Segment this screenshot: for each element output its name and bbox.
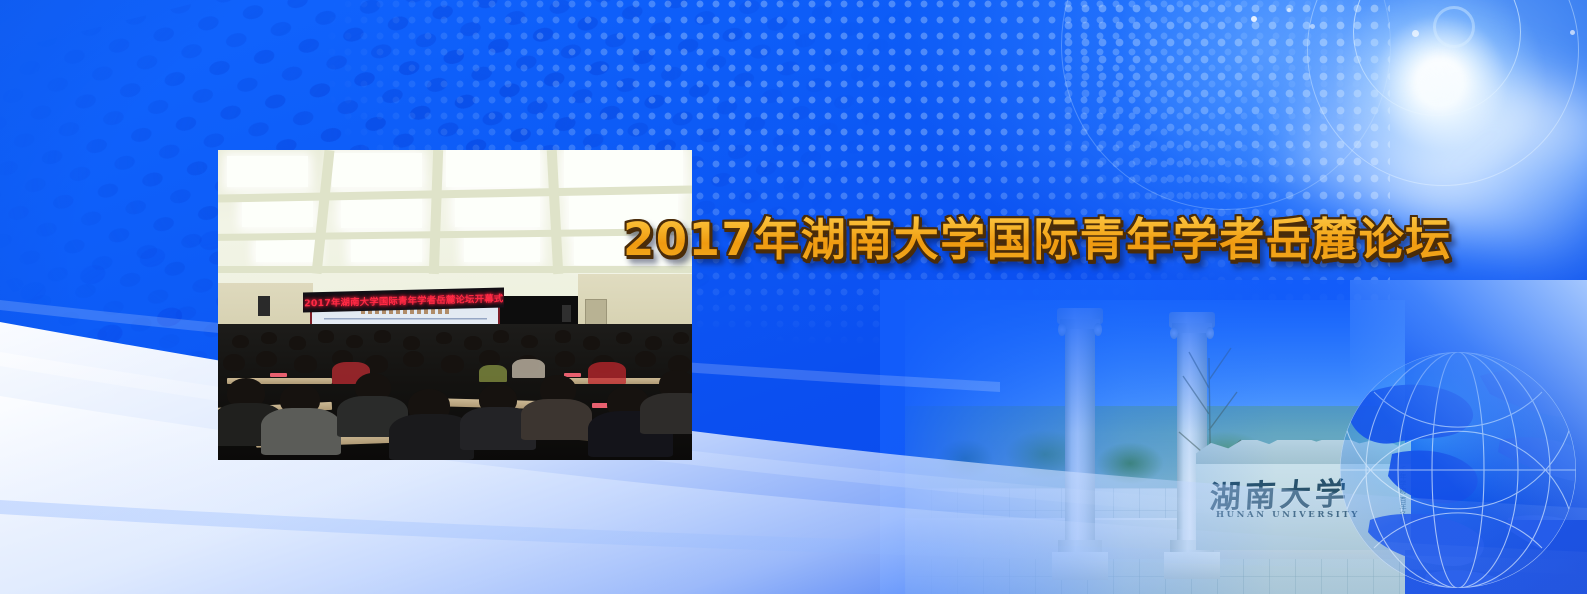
attendee-jacket	[512, 359, 545, 378]
attendee	[403, 351, 424, 367]
ceiling-light	[256, 240, 318, 262]
attendee	[261, 332, 277, 344]
attendee	[616, 332, 632, 344]
attendee	[294, 355, 317, 373]
led-banner: 2017年湖南大学国际青年学者岳麓论坛开幕式	[303, 287, 504, 312]
ceiling-light	[564, 150, 683, 190]
attendee	[555, 351, 576, 367]
attendee	[583, 336, 600, 350]
page-title: 2017年湖南大学国际青年学者岳麓论坛	[623, 203, 1452, 268]
ceiling-beam	[218, 266, 692, 273]
attendee	[479, 350, 500, 366]
attendee	[318, 330, 334, 342]
attendee	[493, 330, 509, 342]
attendee	[232, 335, 249, 349]
event-banner: 湖南大学 HUNAN UNIVERSITY 千年学府 百年名校	[0, 0, 1587, 594]
attendee	[555, 330, 571, 342]
ceiling-light	[351, 237, 422, 262]
attendee	[436, 332, 452, 344]
attendee	[403, 336, 420, 350]
photo-audience	[218, 324, 692, 460]
attendee	[673, 332, 689, 344]
wall-speaker	[562, 305, 571, 322]
ceiling-light	[446, 150, 541, 187]
conference-photo: 2017年湖南大学国际青年学者岳麓论坛开幕式	[218, 150, 692, 460]
ceiling-light	[455, 193, 540, 227]
attendee	[346, 335, 363, 349]
led-banner-text: 2017年湖南大学国际青年学者岳麓论坛开幕式	[304, 290, 503, 309]
ceiling-light	[332, 153, 422, 187]
name-card	[270, 373, 287, 377]
attendee	[441, 355, 464, 373]
attendee-body	[521, 399, 592, 440]
ceiling-light	[341, 197, 422, 228]
ceiling-light	[242, 200, 313, 228]
attendee	[256, 351, 277, 367]
attendee-body	[640, 393, 692, 434]
ceiling-light	[227, 156, 308, 187]
attendee	[223, 354, 245, 372]
attendee	[521, 335, 538, 349]
attendee-body	[261, 408, 342, 454]
attendee	[635, 351, 656, 367]
wall-speaker	[258, 296, 269, 316]
attendee	[289, 336, 306, 350]
attendee	[464, 336, 481, 350]
attendee-jacket	[588, 362, 626, 384]
attendee	[645, 336, 662, 350]
attendee-backpack	[479, 365, 507, 383]
attendee	[374, 330, 390, 342]
